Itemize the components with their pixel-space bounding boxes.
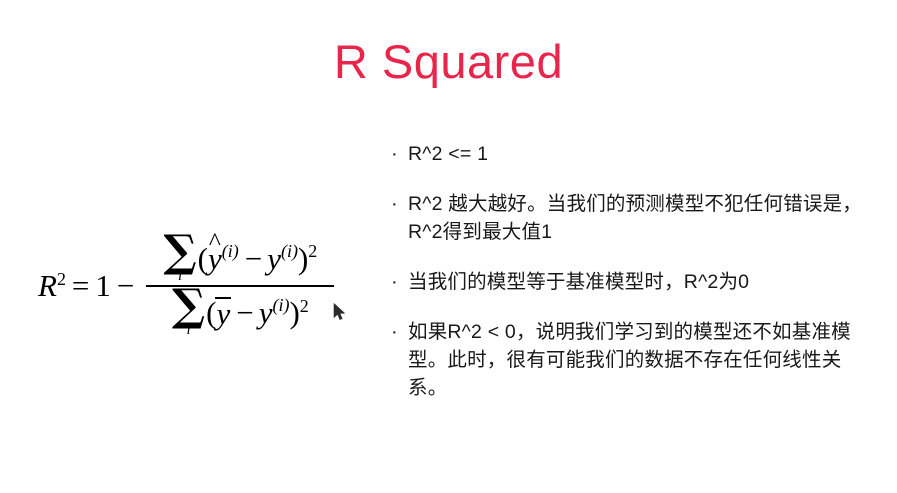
bullet-text: R^2 越大越好。当我们的预测模型不犯任何错误是，R^2得到最大值1 bbox=[408, 190, 879, 246]
denominator-summation: ∑ i bbox=[172, 288, 205, 338]
denominator-close-paren: ) bbox=[289, 295, 299, 331]
numerator-close-paren: ) bbox=[298, 241, 308, 277]
bullet-marker-icon: · bbox=[391, 190, 408, 218]
bullet-list: · R^2 <= 1 · R^2 越大越好。当我们的预测模型不犯任何错误是，R^… bbox=[391, 140, 879, 402]
r-squared-formula: R2 = 1 − ∑ i (y(i)−y(i))2 ∑ i (y−y(i))2 bbox=[38, 234, 334, 338]
list-item: · R^2 越大越好。当我们的预测模型不犯任何错误是，R^2得到最大值1 bbox=[391, 190, 879, 246]
denominator-mean-var: y bbox=[216, 295, 230, 332]
numerator-actual-var: y bbox=[267, 241, 281, 277]
denominator-inner-minus: − bbox=[236, 295, 253, 331]
bullet-marker-icon: · bbox=[391, 140, 408, 168]
numerator-open-paren: ( bbox=[198, 241, 208, 277]
bullet-text: 如果R^2 < 0，说明我们学习到的模型还不如基准模型。此时，很有可能我们的数据… bbox=[408, 318, 879, 402]
bullet-marker-icon: · bbox=[391, 268, 408, 296]
formula-one: 1 bbox=[95, 268, 111, 304]
bullet-text: 当我们的模型等于基准模型时，R^2为0 bbox=[408, 268, 879, 296]
page-title: R Squared bbox=[0, 36, 897, 88]
formula-fraction: ∑ i (y(i)−y(i))2 ∑ i (y−y(i))2 bbox=[146, 234, 334, 338]
slide-canvas: R Squared R2 = 1 − ∑ i (y(i)−y(i))2 ∑ bbox=[0, 0, 897, 493]
denominator-open-paren: ( bbox=[206, 295, 216, 331]
bullet-text: R^2 <= 1 bbox=[408, 140, 879, 168]
formula-equals: = bbox=[72, 268, 89, 304]
list-item: · 当我们的模型等于基准模型时，R^2为0 bbox=[391, 268, 879, 296]
bullet-marker-icon: · bbox=[391, 318, 408, 346]
numerator-predicted-var: y bbox=[208, 241, 222, 277]
sigma-icon: ∑ bbox=[172, 288, 205, 324]
formula-minus: − bbox=[117, 268, 134, 304]
denominator-sigma-subscript: i bbox=[186, 323, 190, 338]
numerator-summation: ∑ i bbox=[164, 234, 197, 284]
list-item: · 如果R^2 < 0，说明我们学习到的模型还不如基准模型。此时，很有可能我们的… bbox=[391, 318, 879, 402]
formula-lhs-symbol: R bbox=[38, 268, 57, 304]
formula-numerator: ∑ i (y(i)−y(i))2 bbox=[158, 234, 324, 285]
formula-denominator: ∑ i (y−y(i))2 bbox=[166, 287, 315, 338]
sigma-icon: ∑ bbox=[164, 234, 197, 270]
list-item: · R^2 <= 1 bbox=[391, 140, 879, 168]
numerator-inner-minus: − bbox=[245, 241, 262, 277]
denominator-actual-var: y bbox=[259, 295, 273, 331]
formula-panel: R2 = 1 − ∑ i (y(i)−y(i))2 ∑ i (y−y(i))2 bbox=[30, 196, 370, 366]
